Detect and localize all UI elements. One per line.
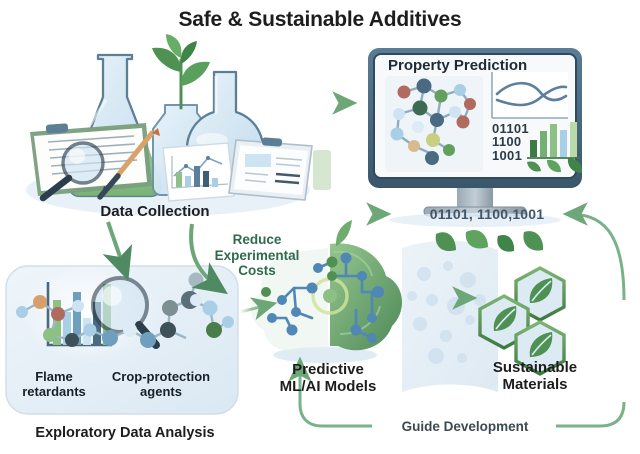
arrow-binary-right bbox=[568, 214, 624, 300]
reduce-line2: Experimental bbox=[215, 248, 300, 263]
flame-retardants-line1: Flame bbox=[35, 369, 73, 384]
screen-binary-text: 01101 1100 1001 bbox=[492, 122, 529, 162]
infographic-canvas: Safe & Sustainable Additives Data Collec… bbox=[0, 0, 640, 454]
reduce-line1: Reduce bbox=[233, 232, 282, 247]
label-predictive-ml-ai-models: Predictive ML/AI Models bbox=[258, 362, 398, 396]
label-exploratory-data-analysis: Exploratory Data Analysis bbox=[0, 425, 250, 441]
crop-protection-line1: Crop-protection bbox=[112, 369, 210, 384]
chart-document-icon bbox=[163, 143, 234, 201]
reduce-line3: Costs bbox=[238, 263, 276, 278]
sustainable-line2: Materials bbox=[502, 376, 567, 393]
line-chart-icon bbox=[492, 72, 568, 118]
label-sustainable-materials: Sustainable Materials bbox=[455, 360, 615, 394]
molecule-diagram-icon bbox=[385, 76, 483, 172]
flame-retardants-line2: retardants bbox=[22, 384, 86, 399]
monitor-illustration bbox=[368, 48, 582, 227]
crop-protection-line2: agents bbox=[140, 384, 182, 399]
report-clipboard-icon bbox=[229, 137, 312, 200]
sustainable-line1: Sustainable bbox=[493, 359, 577, 376]
guide-development-loop-right bbox=[556, 402, 624, 426]
label-crop-protection-agents: Crop-protection agents bbox=[92, 370, 230, 400]
page-title: Safe & Sustainable Additives bbox=[0, 8, 640, 32]
ml-line2: ML/AI Models bbox=[280, 378, 377, 395]
label-data-collection: Data Collection bbox=[55, 204, 255, 221]
data-collection-illustration bbox=[26, 34, 331, 216]
label-binary-feedback: 01101, 1100,1001 bbox=[392, 206, 582, 222]
label-flame-retardants: Flame retardants bbox=[12, 370, 96, 400]
label-property-prediction: Property Prediction bbox=[388, 57, 578, 74]
ml-line1: Predictive bbox=[292, 361, 364, 378]
label-reduce-experimental-costs: Reduce Experimental Costs bbox=[205, 232, 309, 279]
guide-development-loop bbox=[300, 404, 372, 426]
label-guide-development: Guide Development bbox=[380, 419, 550, 434]
